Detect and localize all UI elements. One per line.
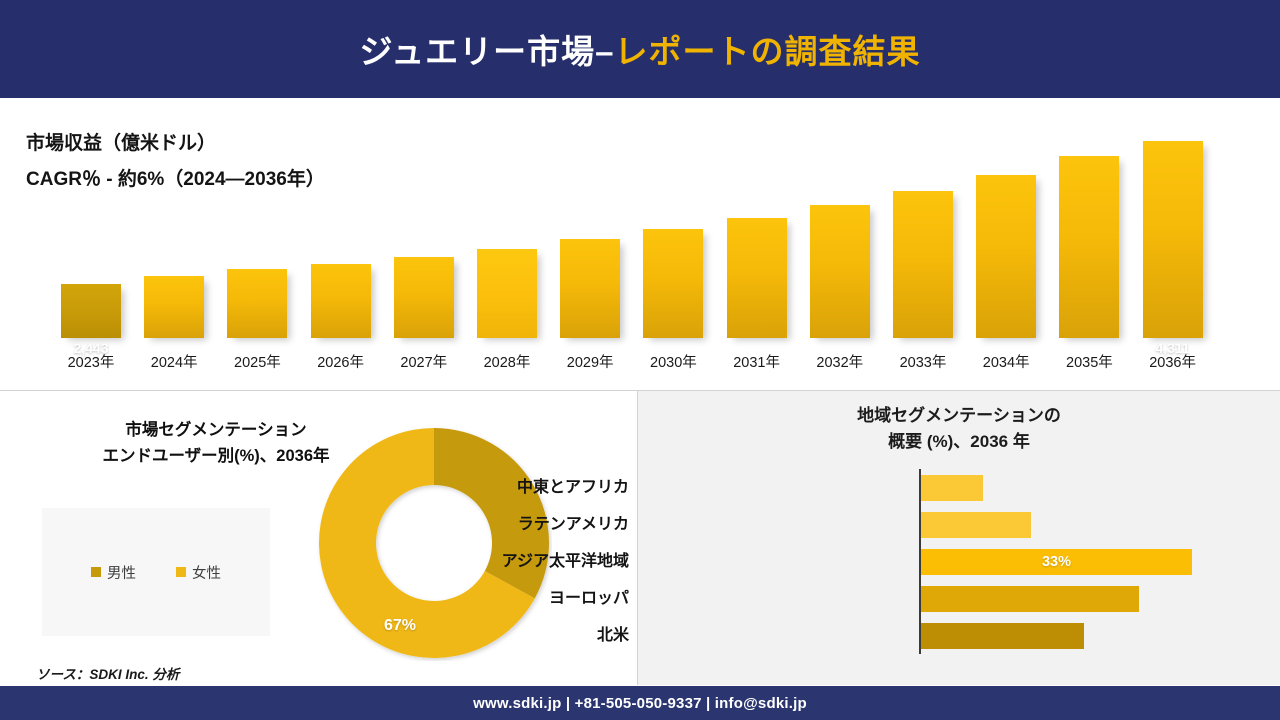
regional-title: 地域セグメンテーションの 概要 (%)、2036 年 <box>638 403 1280 454</box>
revenue-bar-column <box>893 191 953 338</box>
revenue-bar-column <box>144 276 204 338</box>
legend-swatch-icon <box>91 567 101 577</box>
page-title-primary: ジュエリー市場– <box>359 33 614 70</box>
page-title: ジュエリー市場–レポートの調査結果 <box>359 25 920 73</box>
regional-row: 北米 <box>638 623 1280 649</box>
revenue-bar <box>477 249 537 338</box>
revenue-bar-label: 2028年 <box>465 351 549 372</box>
segmentation-title-line1: 市場セグメンテーション <box>125 421 306 439</box>
revenue-bar-label: 2026年 <box>299 351 383 372</box>
revenue-bar-column <box>1143 141 1203 338</box>
revenue-bar-column <box>311 264 371 338</box>
regional-row: ヨーロッパ <box>638 586 1280 612</box>
revenue-bar-column <box>643 229 703 338</box>
revenue-bar <box>643 229 703 338</box>
revenue-bar-label: 2031年 <box>715 351 799 372</box>
regional-bar[interactable] <box>921 512 1031 538</box>
revenue-bar-label: 2033年 <box>881 351 965 372</box>
regional-row-label: 中東とアフリカ <box>349 475 629 501</box>
legend-item[interactable]: 女性 <box>176 562 221 583</box>
regional-bar[interactable] <box>921 475 983 501</box>
revenue-bar-label: 2027年 <box>382 351 466 372</box>
infographic-page: ジュエリー市場–レポートの調査結果 市場収益（億米ドル） CAGR％ - 約6%… <box>0 0 1280 720</box>
legend-label: 男性 <box>107 562 136 583</box>
revenue-bar-column <box>1059 156 1119 338</box>
revenue-bar-column <box>976 175 1036 338</box>
revenue-bar-column <box>477 249 537 338</box>
revenue-bar <box>394 257 454 338</box>
revenue-bar-column <box>810 205 870 338</box>
revenue-bar <box>810 205 870 338</box>
revenue-chart-panel: 市場収益（億米ドル） CAGR％ - 約6%（2024―2036年） 2,443… <box>0 98 1280 390</box>
revenue-bar <box>227 269 287 338</box>
revenue-bar <box>311 264 371 338</box>
regional-bar[interactable] <box>921 623 1084 649</box>
header-banner: ジュエリー市場–レポートの調査結果 <box>0 0 1280 98</box>
revenue-bar-label: 2029年 <box>548 351 632 372</box>
footer-contact: www.sdki.jp | +81-505-050-9337 | info@sd… <box>473 695 807 712</box>
revenue-bar-label: 2034年 <box>964 351 1048 372</box>
regional-row: 中東とアフリカ <box>638 475 1280 501</box>
revenue-bar-label: 2024年 <box>132 351 216 372</box>
regional-row-label: ヨーロッパ <box>349 586 629 612</box>
source-note: ソース：SDKI Inc. 分析 <box>36 663 179 683</box>
revenue-bar-column <box>61 284 121 338</box>
revenue-bar <box>61 284 121 338</box>
revenue-bar <box>144 276 204 338</box>
regional-bar[interactable]: 33% <box>921 549 1192 575</box>
revenue-bar-label: 2032年 <box>798 351 882 372</box>
legend-label: 女性 <box>192 562 221 583</box>
revenue-bar <box>560 239 620 338</box>
footer-banner: www.sdki.jp | +81-505-050-9337 | info@sd… <box>0 686 1280 720</box>
regional-row: ラテンアメリカ <box>638 512 1280 538</box>
revenue-bar-label: 2030年 <box>631 351 715 372</box>
revenue-bar-label: 2023年 <box>49 351 133 372</box>
regional-row-label: ラテンアメリカ <box>349 512 629 538</box>
revenue-bar-column <box>727 218 787 338</box>
regional-bar[interactable] <box>921 586 1139 612</box>
regional-row-label: アジア太平洋地域 <box>349 549 629 575</box>
regional-title-line1: 地域セグメンテーションの <box>857 406 1061 425</box>
revenue-bar-label: 2035年 <box>1047 351 1131 372</box>
revenue-bar <box>976 175 1036 338</box>
revenue-bar <box>727 218 787 338</box>
revenue-bar-label: 2036年 <box>1131 351 1215 372</box>
regional-row-label: 北米 <box>349 623 629 649</box>
revenue-bar <box>893 191 953 338</box>
page-title-accent: レポートの調査結果 <box>615 33 921 70</box>
regional-title-line2: 概要 (%)、2036 年 <box>888 432 1030 451</box>
revenue-bar-column <box>394 257 454 338</box>
regional-panel: 地域セグメンテーションの 概要 (%)、2036 年 中東とアフリカラテンアメリ… <box>638 391 1280 685</box>
revenue-bar-column <box>560 239 620 338</box>
segmentation-title-line2: エンドユーザー別(%)、2036年 <box>102 447 329 465</box>
segmentation-legend: 男性女性 <box>42 508 270 636</box>
revenue-bar-label: 2025年 <box>215 351 299 372</box>
revenue-bars-container: 2,4432023年2024年2025年2026年2027年2028年2029年… <box>0 98 1280 390</box>
legend-item[interactable]: 男性 <box>91 562 136 583</box>
regional-row: アジア太平洋地域33% <box>638 549 1280 575</box>
revenue-bar <box>1143 141 1203 338</box>
legend-swatch-icon <box>176 567 186 577</box>
revenue-bar <box>1059 156 1119 338</box>
regional-bar-value: 33% <box>921 549 1192 575</box>
revenue-bar-column <box>227 269 287 338</box>
